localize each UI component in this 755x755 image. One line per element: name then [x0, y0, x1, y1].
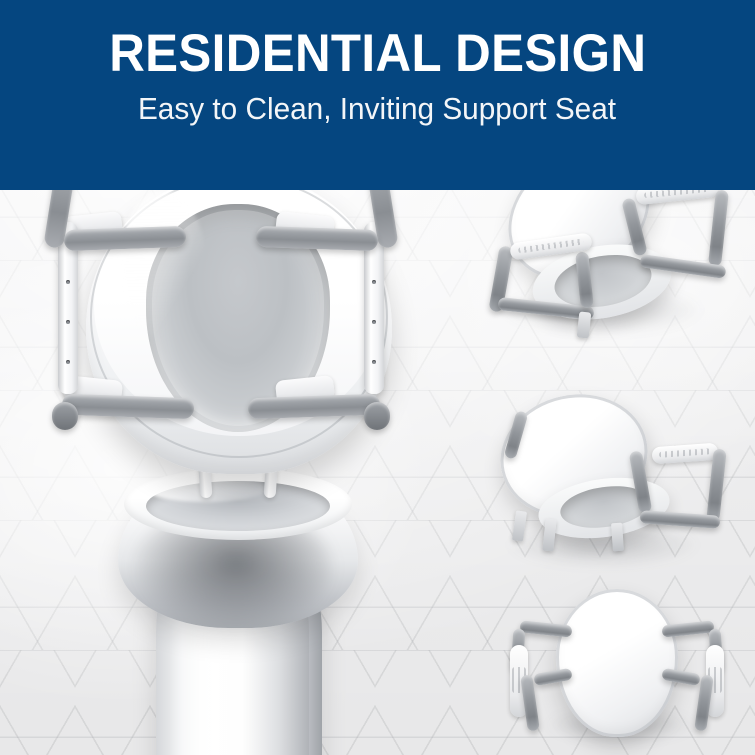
leg-hole	[372, 320, 376, 324]
page-subtitle: Easy to Clean, Inviting Support Seat	[138, 92, 616, 126]
riser-gloss-highlight	[120, 190, 206, 340]
shot2-right-grip	[651, 443, 718, 465]
shot2-mount-foot-c	[611, 523, 624, 552]
shot3-lid-edge	[556, 589, 678, 737]
leg-hole	[372, 360, 376, 364]
leg-hole	[66, 320, 70, 324]
page-title: RESIDENTIAL DESIGN	[109, 27, 646, 81]
leg-hole	[372, 280, 376, 284]
leg-hole	[66, 360, 70, 364]
shot1-right-arm-back	[708, 190, 729, 267]
main-product-image	[28, 150, 448, 755]
product-marketing-image: RESIDENTIAL DESIGN Easy to Clean, Inviti…	[0, 0, 755, 755]
shot1-mount-foot-left	[577, 311, 592, 338]
support-arm-left-end-cap	[52, 402, 78, 430]
detail-shot-lid-closed-angle	[484, 395, 750, 580]
leg-hole	[66, 280, 70, 284]
detail-shot-top-down	[494, 575, 744, 750]
support-arm-right-end-cap	[364, 402, 390, 430]
support-arm-right-upper	[256, 226, 379, 251]
support-arm-left-lower	[62, 394, 195, 420]
header-banner: RESIDENTIAL DESIGN Easy to Clean, Inviti…	[0, 0, 755, 190]
support-arm-left-upper	[64, 226, 187, 251]
